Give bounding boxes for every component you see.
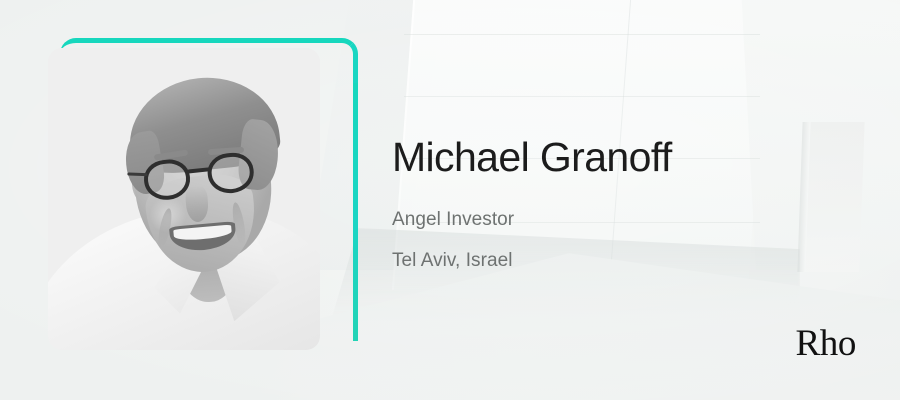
portrait-illustration [48,48,320,350]
profile-info: Michael Granoff Angel Investor Tel Aviv,… [392,133,832,274]
profile-card: Michael Granoff Angel Investor Tel Aviv,… [0,0,900,400]
portrait-photo [48,48,320,350]
portrait-teeth [173,225,232,242]
rho-logo: Rho [796,325,856,362]
glasses-temple [127,172,147,176]
profile-location: Tel Aviv, Israel [392,248,832,274]
portrait-card [48,48,320,350]
glasses-lens-left [142,157,192,202]
glasses-lens-right [206,151,256,196]
profile-role: Angel Investor [392,207,832,233]
background-seam [404,96,760,97]
background-seam [404,34,760,35]
profile-name: Michael Granoff [392,133,832,181]
